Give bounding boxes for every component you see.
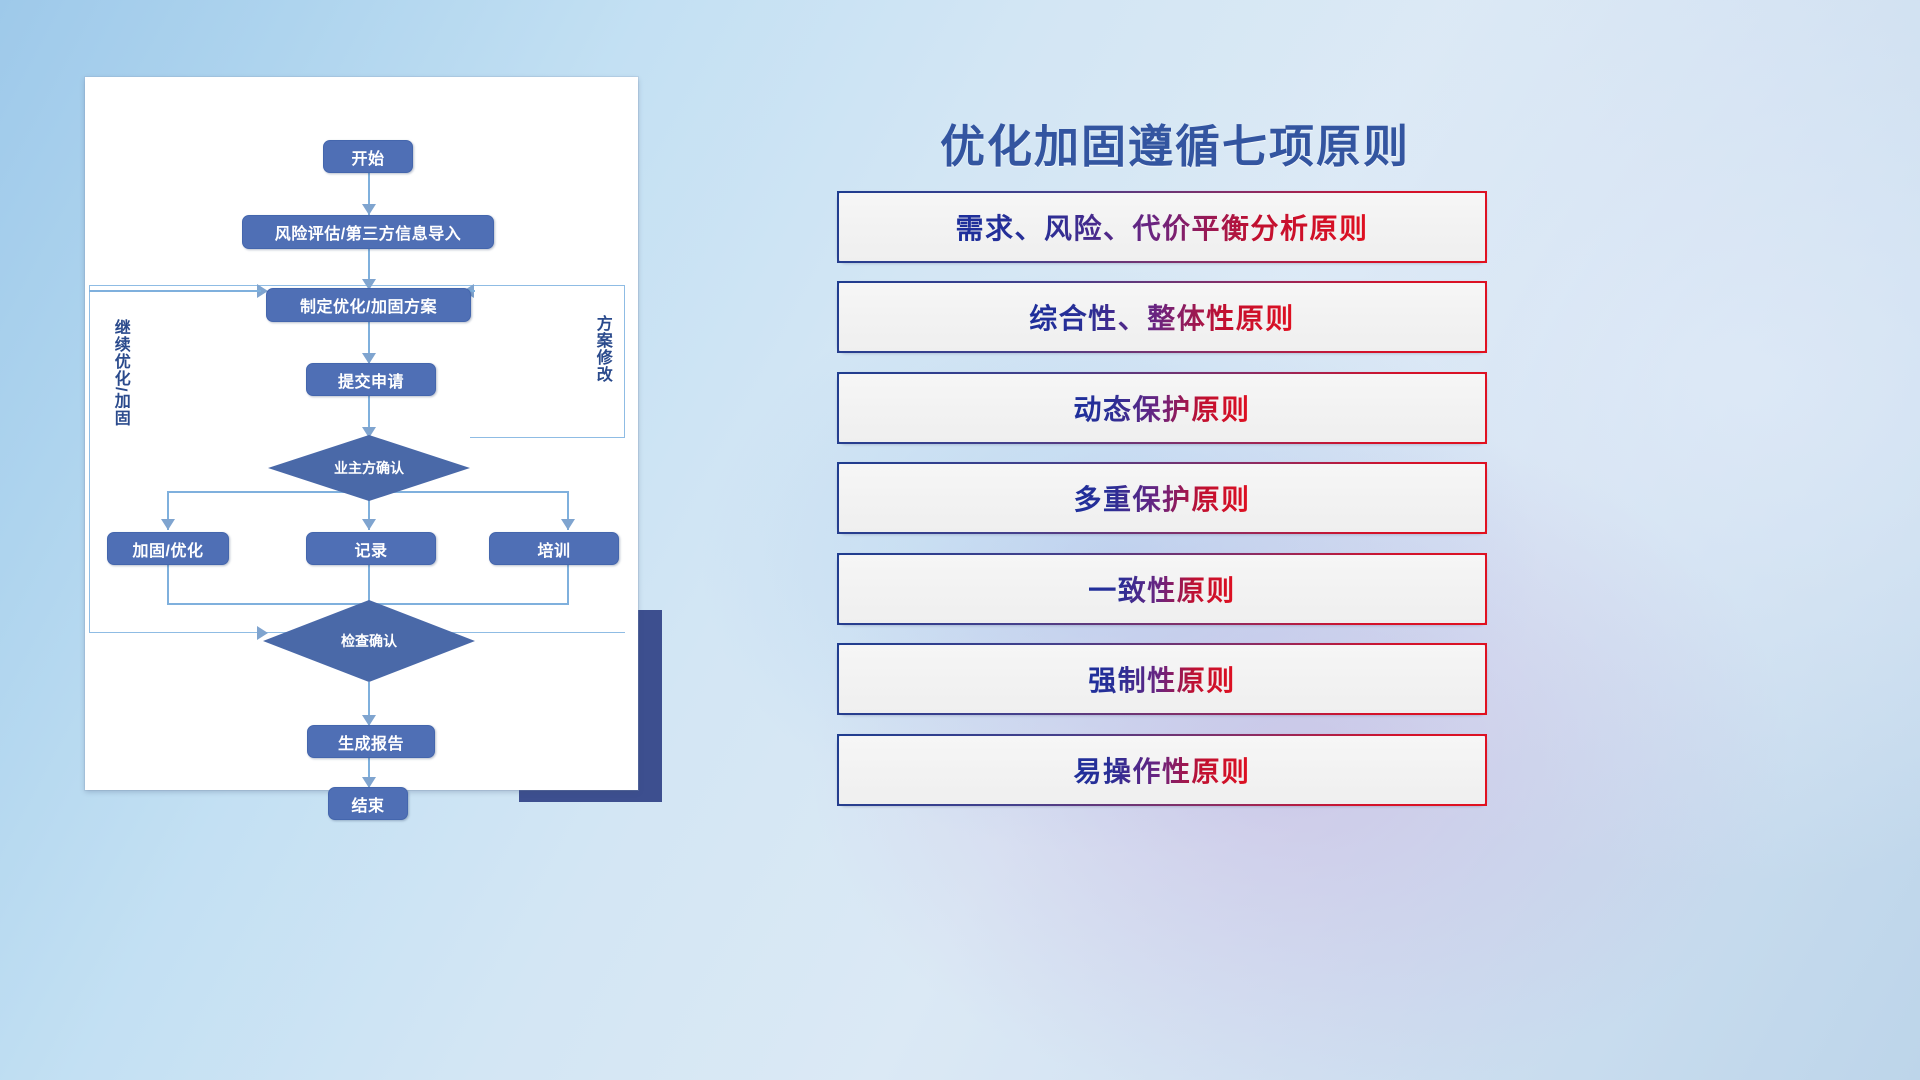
node-plan[interactable]: 制定优化/加固方案 [266, 288, 471, 322]
principle-label: 多重保护原则 [1073, 478, 1250, 518]
connector-leftloop-to-plan [89, 290, 261, 292]
arrowhead-down [362, 204, 376, 215]
connector-rightloop-to-plan [470, 290, 475, 292]
principle-card-3[interactable]: 动态保护原则 [837, 372, 1487, 444]
node-training[interactable]: 培训 [489, 532, 619, 565]
node-end[interactable]: 结束 [328, 787, 408, 820]
arrowhead-down [362, 519, 376, 530]
edge-label-continue-optimize: 继续优化/加固 [111, 319, 128, 426]
principle-label: 动态保护原则 [1073, 388, 1250, 428]
principle-card-7[interactable]: 易操作性原则 [837, 734, 1487, 806]
flowchart-card: 开始 风险评估/第三方信息导入 制定优化/加固方案 提交申请 业主方确认 加固/… [85, 77, 638, 790]
principle-card-2[interactable]: 综合性、整体性原则 [837, 281, 1487, 353]
node-record[interactable]: 记录 [306, 532, 436, 565]
principle-card-6[interactable]: 强制性原则 [837, 643, 1487, 715]
principles-panel: 优化加固遵循七项原则 需求、风险、代价平衡分析原则 综合性、整体性原则 动态保护… [830, 0, 1920, 1080]
principle-label: 一致性原则 [1088, 569, 1236, 609]
connector-training-merge [567, 565, 569, 604]
node-submit-application[interactable]: 提交申请 [306, 363, 436, 396]
arrowhead-down [161, 519, 175, 530]
principle-label: 强制性原则 [1088, 659, 1236, 699]
node-reinforce-optimize[interactable]: 加固/优化 [107, 532, 229, 565]
principle-card-5[interactable]: 一致性原则 [837, 553, 1487, 625]
principle-label: 综合性、整体性原则 [1029, 297, 1295, 337]
arrowhead-right [257, 626, 268, 640]
arrowhead-down [561, 519, 575, 530]
node-risk-assessment[interactable]: 风险评估/第三方信息导入 [242, 215, 494, 249]
node-generate-report[interactable]: 生成报告 [307, 725, 435, 758]
edge-label-plan-revision: 方案修改 [593, 315, 610, 383]
node-start[interactable]: 开始 [323, 140, 413, 173]
principle-label: 需求、风险、代价平衡分析原则 [955, 207, 1368, 247]
principle-card-1[interactable]: 需求、风险、代价平衡分析原则 [837, 191, 1487, 263]
page-title: 优化加固遵循七项原则 [830, 110, 1520, 175]
connector-reinforce-merge [167, 565, 169, 604]
principle-label: 易操作性原则 [1073, 750, 1250, 790]
principle-card-4[interactable]: 多重保护原则 [837, 462, 1487, 534]
